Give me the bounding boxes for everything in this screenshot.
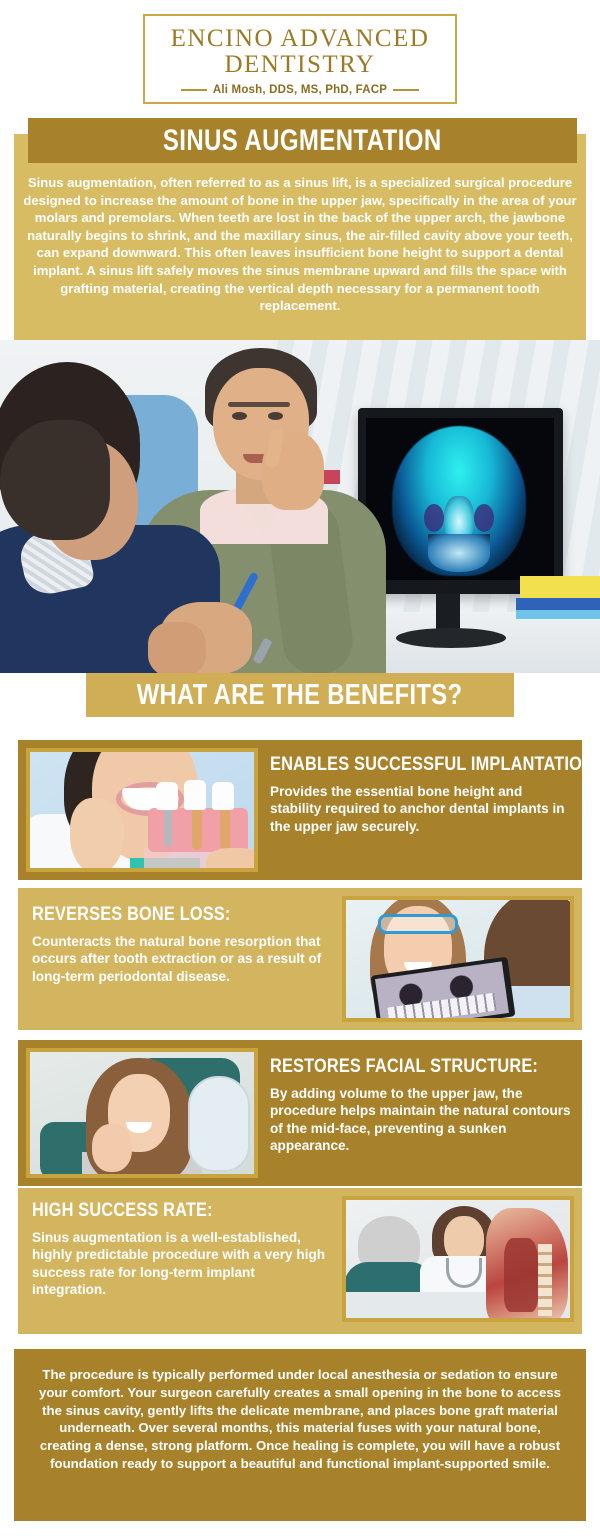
photo1-crown-3	[212, 782, 234, 810]
benefit-body-3: By adding volume to the upper jaw, the p…	[270, 1085, 572, 1155]
hero-dentist-eye-right	[268, 412, 283, 420]
brand-name-line2: DENTISTRY	[171, 52, 430, 78]
brand-name-line1: ENCINO ADVANCED	[171, 26, 430, 52]
intro-section: SINUS AUGMENTATION Sinus augmentation, o…	[0, 118, 600, 340]
photo2-safety-goggles	[378, 914, 458, 934]
divider-rule-left	[181, 89, 207, 91]
photo1-implant-post	[164, 806, 172, 846]
photo1-crown-2	[184, 780, 206, 810]
footer-paragraph: The procedure is typically performed und…	[32, 1366, 568, 1473]
benefits-banner-title: WHAT ARE THE BENEFITS?	[137, 679, 463, 712]
benefit-heading-2: REVERSES BONE LOSS:	[32, 904, 290, 926]
photo1-tooth-root-1	[192, 810, 202, 850]
benefit-heading-3: RESTORES FACIAL STRUCTURE:	[270, 1056, 530, 1078]
hero-monitor-screen	[366, 418, 554, 580]
page-title: SINUS AUGMENTATION	[163, 124, 442, 158]
photo4-model-sinus-detail	[504, 1238, 538, 1312]
main-title-bar: SINUS AUGMENTATION	[28, 118, 577, 163]
hero-photo	[0, 340, 600, 673]
benefit-heading-1: ENABLES SUCCESSFUL IMPLANTATION:	[270, 754, 528, 776]
benefit-body-1: Provides the essential bone height and s…	[270, 783, 570, 835]
benefit-text-2: REVERSES BONE LOSS: Counteracts the natu…	[32, 904, 332, 985]
benefit-card-3: RESTORES FACIAL STRUCTURE: By adding vol…	[18, 1040, 582, 1186]
jaw-region	[428, 534, 490, 572]
benefit-card-2: REVERSES BONE LOSS: Counteracts the natu…	[18, 888, 582, 1030]
benefit-photo-2	[342, 896, 574, 1022]
hero-monitor-foot	[396, 628, 506, 648]
photo3-hand	[92, 1124, 132, 1172]
benefit-photo-1	[26, 748, 258, 872]
hero-lightblue-folder	[516, 610, 600, 619]
photo1-hand	[70, 798, 124, 872]
benefit-card-1: ENABLES SUCCESSFUL IMPLANTATION: Provide…	[18, 740, 582, 880]
photo1-crown-1	[156, 782, 178, 810]
benefit-photo-3	[26, 1048, 258, 1178]
logo-box: ENCINO ADVANCED DENTISTRY Ali Mosh, DDS,…	[143, 14, 458, 104]
logo-subtitle-row: Ali Mosh, DDS, MS, PhD, FACP	[171, 84, 430, 96]
logo-header: ENCINO ADVANCED DENTISTRY Ali Mosh, DDS,…	[0, 0, 600, 118]
intro-paragraph: Sinus augmentation, often referred to as…	[20, 174, 580, 315]
sinus-cavity-left	[424, 504, 444, 532]
benefit-body-4: Sinus augmentation is a well-established…	[32, 1229, 332, 1299]
benefits-banner: WHAT ARE THE BENEFITS?	[86, 673, 514, 717]
footer-panel: The procedure is typically performed und…	[14, 1349, 586, 1521]
infographic-page: ENCINO ADVANCED DENTISTRY Ali Mosh, DDS,…	[0, 0, 600, 1536]
benefit-card-4: HIGH SUCCESS RATE: Sinus augmentation is…	[18, 1188, 582, 1334]
hero-patient-fist	[148, 622, 206, 673]
hero-dentist-brow	[228, 402, 290, 407]
benefit-body-2: Counteracts the natural bone resorption …	[32, 933, 332, 985]
sinus-cavity-right	[474, 504, 494, 532]
benefit-text-4: HIGH SUCCESS RATE: Sinus augmentation is…	[32, 1200, 332, 1299]
divider-rule-right	[393, 89, 419, 91]
photo1-tooth-root-2	[220, 810, 230, 850]
photo4-model-spine	[538, 1244, 552, 1316]
benefit-heading-4: HIGH SUCCESS RATE:	[32, 1200, 290, 1222]
benefit-text-1: ENABLES SUCCESSFUL IMPLANTATION: Provide…	[270, 754, 570, 835]
photo3-hand-mirror	[188, 1076, 250, 1172]
benefit-text-3: RESTORES FACIAL STRUCTURE: By adding vol…	[270, 1056, 572, 1155]
hero-patient-hair	[0, 420, 110, 540]
benefit-photo-4	[342, 1196, 574, 1322]
hero-dentist-eye-left	[232, 412, 247, 420]
hero-blue-folder	[516, 598, 600, 610]
photo1-holding-hand	[206, 848, 258, 872]
doctor-credentials: Ali Mosh, DDS, MS, PhD, FACP	[213, 84, 387, 96]
